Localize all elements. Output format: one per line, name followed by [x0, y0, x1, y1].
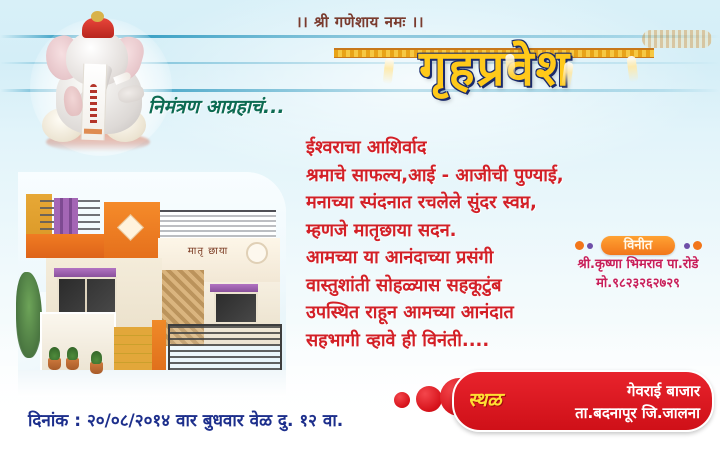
- host-banner-label: विनीत: [601, 236, 675, 255]
- ganesha-idol-icon: [26, 12, 176, 160]
- banner-dot-icon: [693, 241, 702, 250]
- verse-line: सहभागी व्हावे ही विनंती....: [306, 327, 606, 355]
- house-right-lintel: [210, 284, 258, 292]
- house-plant-pot: [90, 362, 103, 374]
- ganesha-mala: [90, 84, 97, 126]
- house-nameplate: मातृ छाया: [176, 244, 240, 260]
- banner-dot-icon: [575, 241, 584, 250]
- house-purple-panel: [54, 198, 78, 236]
- decorative-ball-icon: [394, 392, 410, 408]
- host-mobile-number: मो.९८२३२६२७२९: [556, 274, 720, 293]
- card-title-wrapper: गृहप्रवेश: [320, 42, 670, 112]
- house-plant-pot: [48, 358, 61, 370]
- banner-dot-icon: [684, 243, 690, 249]
- venue-line-1: गेवराई बाजार: [627, 381, 700, 401]
- host-name: श्री.कृष्णा भिमराव पा.रोडे: [556, 255, 720, 274]
- house-plant-pot: [66, 358, 79, 370]
- house-window-lintel: [54, 268, 116, 277]
- verse-line: उपस्थित राहून आमच्या आनंदात: [306, 299, 606, 327]
- card-subtitle: निमंत्रण आग्रहाचं...: [148, 93, 285, 119]
- verse-line: मनाच्या स्पंदनात रचलेले सुंदर स्वप्न,: [306, 189, 606, 217]
- venue-line-2: ता.बदनापूर जि.जालना: [575, 403, 700, 423]
- house-ground: [18, 370, 286, 397]
- verse-line: श्रमाचे साफल्य,आई - आजीची पुण्याई,: [306, 162, 606, 190]
- house-right-window: [214, 292, 258, 324]
- house-wall-disc: [246, 242, 268, 264]
- page-title: गृहप्रवेश: [320, 44, 670, 93]
- venue-badge: स्थळ गेवराई बाजार ता.बदनापूर जि.जालना: [452, 370, 714, 432]
- verse-line: ईश्वराचा आशिर्वाद: [306, 134, 606, 162]
- venue-label: स्थळ: [468, 386, 502, 412]
- invitation-card: ।। श्री गणेशाय नमः ।। गृहप्रवेश निमंत्रण…: [0, 0, 720, 450]
- decorative-ball-icon: [416, 386, 442, 412]
- host-block: विनीत श्री.कृष्णा भिमराव पा.रोडे मो.९८२३…: [556, 236, 720, 293]
- banner-dot-icon: [587, 243, 593, 249]
- event-date-line: दिनांक : २०/०८/२०१४ वार बुधवार वेळ दु. १…: [28, 408, 343, 431]
- ganesha-crown: [82, 18, 114, 38]
- house-photo-icon: मातृ छाया: [18, 172, 286, 397]
- title-sparkle-icon-2: [505, 54, 516, 81]
